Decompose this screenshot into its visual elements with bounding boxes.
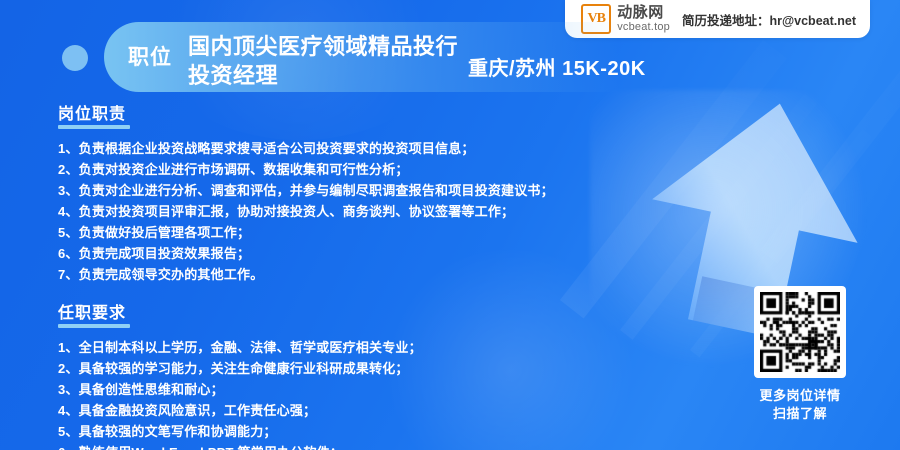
list-item: 2、负责对投资企业进行市场调研、数据收集和可行性分析； [58,159,578,180]
list-item: 4、负责对投资项目评审汇报，协助对接投资人、商务谈判、协议签署等工作； [58,201,578,222]
diagonal-stripe [0,0,165,6]
qr-caption: 更多岗位详情 扫描了解 [754,387,846,423]
section-heading: 任职要求 [58,299,126,328]
qr-code-card[interactable] [754,286,846,378]
qr-caption-line1: 更多岗位详情 [754,387,846,405]
responsibility-list: 1、负责根据企业投资战略要求搜寻适合公司投资要求的投资项目信息； 2、负责对投资… [58,138,578,285]
brand-name-cn: 动脉网 [617,5,670,20]
resume-email-text[interactable]: 简历投递地址：hr@vcbeat.net [682,10,856,29]
list-item: 1、负责根据企业投资战略要求搜寻适合公司投资要求的投资项目信息； [58,138,578,159]
section-requirements: 任职要求 1、全日制本科以上学历，金融、法律、哲学或医疗相关专业； 2、具备较强… [58,299,578,450]
job-header: 职位 国内顶尖医疗领域精品投行投资经理 重庆/苏州 15K-20K [0,28,900,90]
job-content: 岗位职责 1、负责根据企业投资战略要求搜寻适合公司投资要求的投资项目信息； 2、… [58,100,578,450]
job-posting-poster: VB 动脉网 vcbeat.top 简历投递地址：hr@vcbeat.net 职… [0,0,900,450]
list-item: 1、全日制本科以上学历，金融、法律、哲学或医疗相关专业； [58,337,578,358]
list-item: 4、具备金融投资风险意识，工作责任心强； [58,400,578,421]
section-responsibilities: 岗位职责 1、负责根据企业投资战略要求搜寻适合公司投资要求的投资项目信息； 2、… [58,100,578,285]
job-title: 国内顶尖医疗领域精品投行投资经理 [188,30,458,90]
circle-decoration-icon [62,45,88,71]
list-item: 5、具备较强的文笔写作和协调能力； [58,421,578,442]
requirement-list: 1、全日制本科以上学历，金融、法律、哲学或医疗相关专业； 2、具备较强的学习能力… [58,337,578,450]
list-item: 5、负责做好投后管理各项工作； [58,222,578,243]
qr-code-icon[interactable] [760,292,840,372]
location-salary: 重庆/苏州 15K-20K [468,52,646,81]
section-heading: 岗位职责 [58,100,126,129]
qr-block: 更多岗位详情 扫描了解 [754,286,846,423]
list-item: 3、具备创造性思维和耐心； [58,379,578,400]
list-item: 3、负责对企业进行分析、调查和评估，并参与编制尽职调查报告和项目投资建议书； [58,180,578,201]
list-item: 6、熟练使用Word,Excel,PPT 等常用办公软件； [58,442,578,450]
qr-caption-line2: 扫描了解 [754,405,846,423]
title-row: 职位 国内顶尖医疗领域精品投行投资经理 [128,30,458,90]
position-label: 职位 [128,30,172,72]
list-item: 7、负责完成领导交办的其他工作。 [58,264,578,285]
list-item: 2、具备较强的学习能力，关注生命健康行业科研成果转化； [58,358,578,379]
list-item: 6、负责完成项目投资效果报告； [58,243,578,264]
diagonal-stripe [0,0,81,15]
